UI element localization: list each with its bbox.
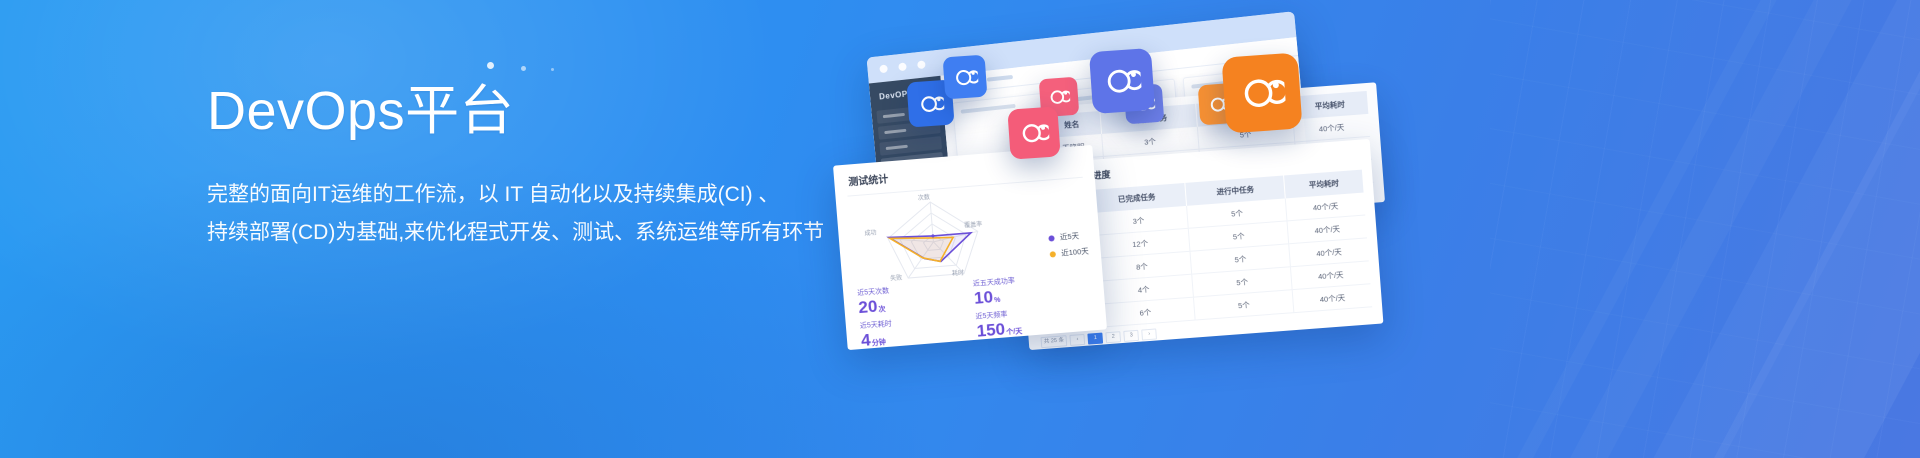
legend-swatch-icon (1050, 251, 1056, 257)
devops-logo-tile-orange-large (1221, 52, 1302, 133)
devops-loop-icon (952, 64, 979, 91)
legend-item-2: 近100天 (1050, 246, 1089, 260)
decorative-dot (551, 68, 554, 71)
decorative-dot (487, 62, 494, 69)
hero-banner: DevOps平台 完整的面向IT运维的工作流，以 IT 自动化以及持续集成(CI… (0, 0, 1920, 458)
legend-swatch-icon (1049, 235, 1055, 241)
devops-logo-tile-purple-large (1089, 48, 1155, 114)
dashboard-illustration: DevOPS (840, 0, 1920, 458)
radar-axis-label: 失败 (890, 273, 903, 283)
pager-prev[interactable]: ‹ (1070, 334, 1086, 346)
devops-loop-icon (917, 90, 945, 118)
radar-axis-label: 覆盖率 (964, 219, 983, 229)
radar-axis-label: 成功 (864, 227, 877, 237)
devops-loop-icon (1102, 61, 1143, 102)
decorative-dot (521, 66, 526, 71)
devops-logo-tile-pink-medium (1007, 106, 1060, 159)
window-dot-icon (879, 64, 888, 73)
devops-loop-icon (1047, 85, 1070, 108)
radar-axis-label: 次数 (917, 192, 930, 202)
stat-block: 近5天耗时 4分钟 (860, 312, 978, 349)
legend-item-1: 近5天 (1049, 230, 1088, 244)
pager-page-1[interactable]: 1 (1088, 333, 1104, 345)
pager-page-3[interactable]: 3 (1123, 330, 1139, 342)
devops-loop-icon (1237, 68, 1286, 117)
test-statistics-card: 测试统计 (833, 145, 1107, 350)
devops-logo-tile-blue-medium (943, 55, 988, 100)
tab-inactive (987, 75, 1013, 82)
radar-legend: 近5天 近100天 (1049, 230, 1090, 265)
pager-total: 共 25 条 (1041, 335, 1068, 348)
pager-page-2[interactable]: 2 (1106, 331, 1122, 343)
radar-axis-label: 耗时 (952, 268, 965, 278)
devops-loop-icon (1018, 117, 1050, 149)
legend-label: 近100天 (1061, 246, 1089, 259)
window-dot-icon (898, 62, 907, 71)
pager-next[interactable]: › (1141, 328, 1157, 340)
window-dot-icon (917, 60, 926, 69)
legend-label: 近5天 (1060, 230, 1080, 243)
